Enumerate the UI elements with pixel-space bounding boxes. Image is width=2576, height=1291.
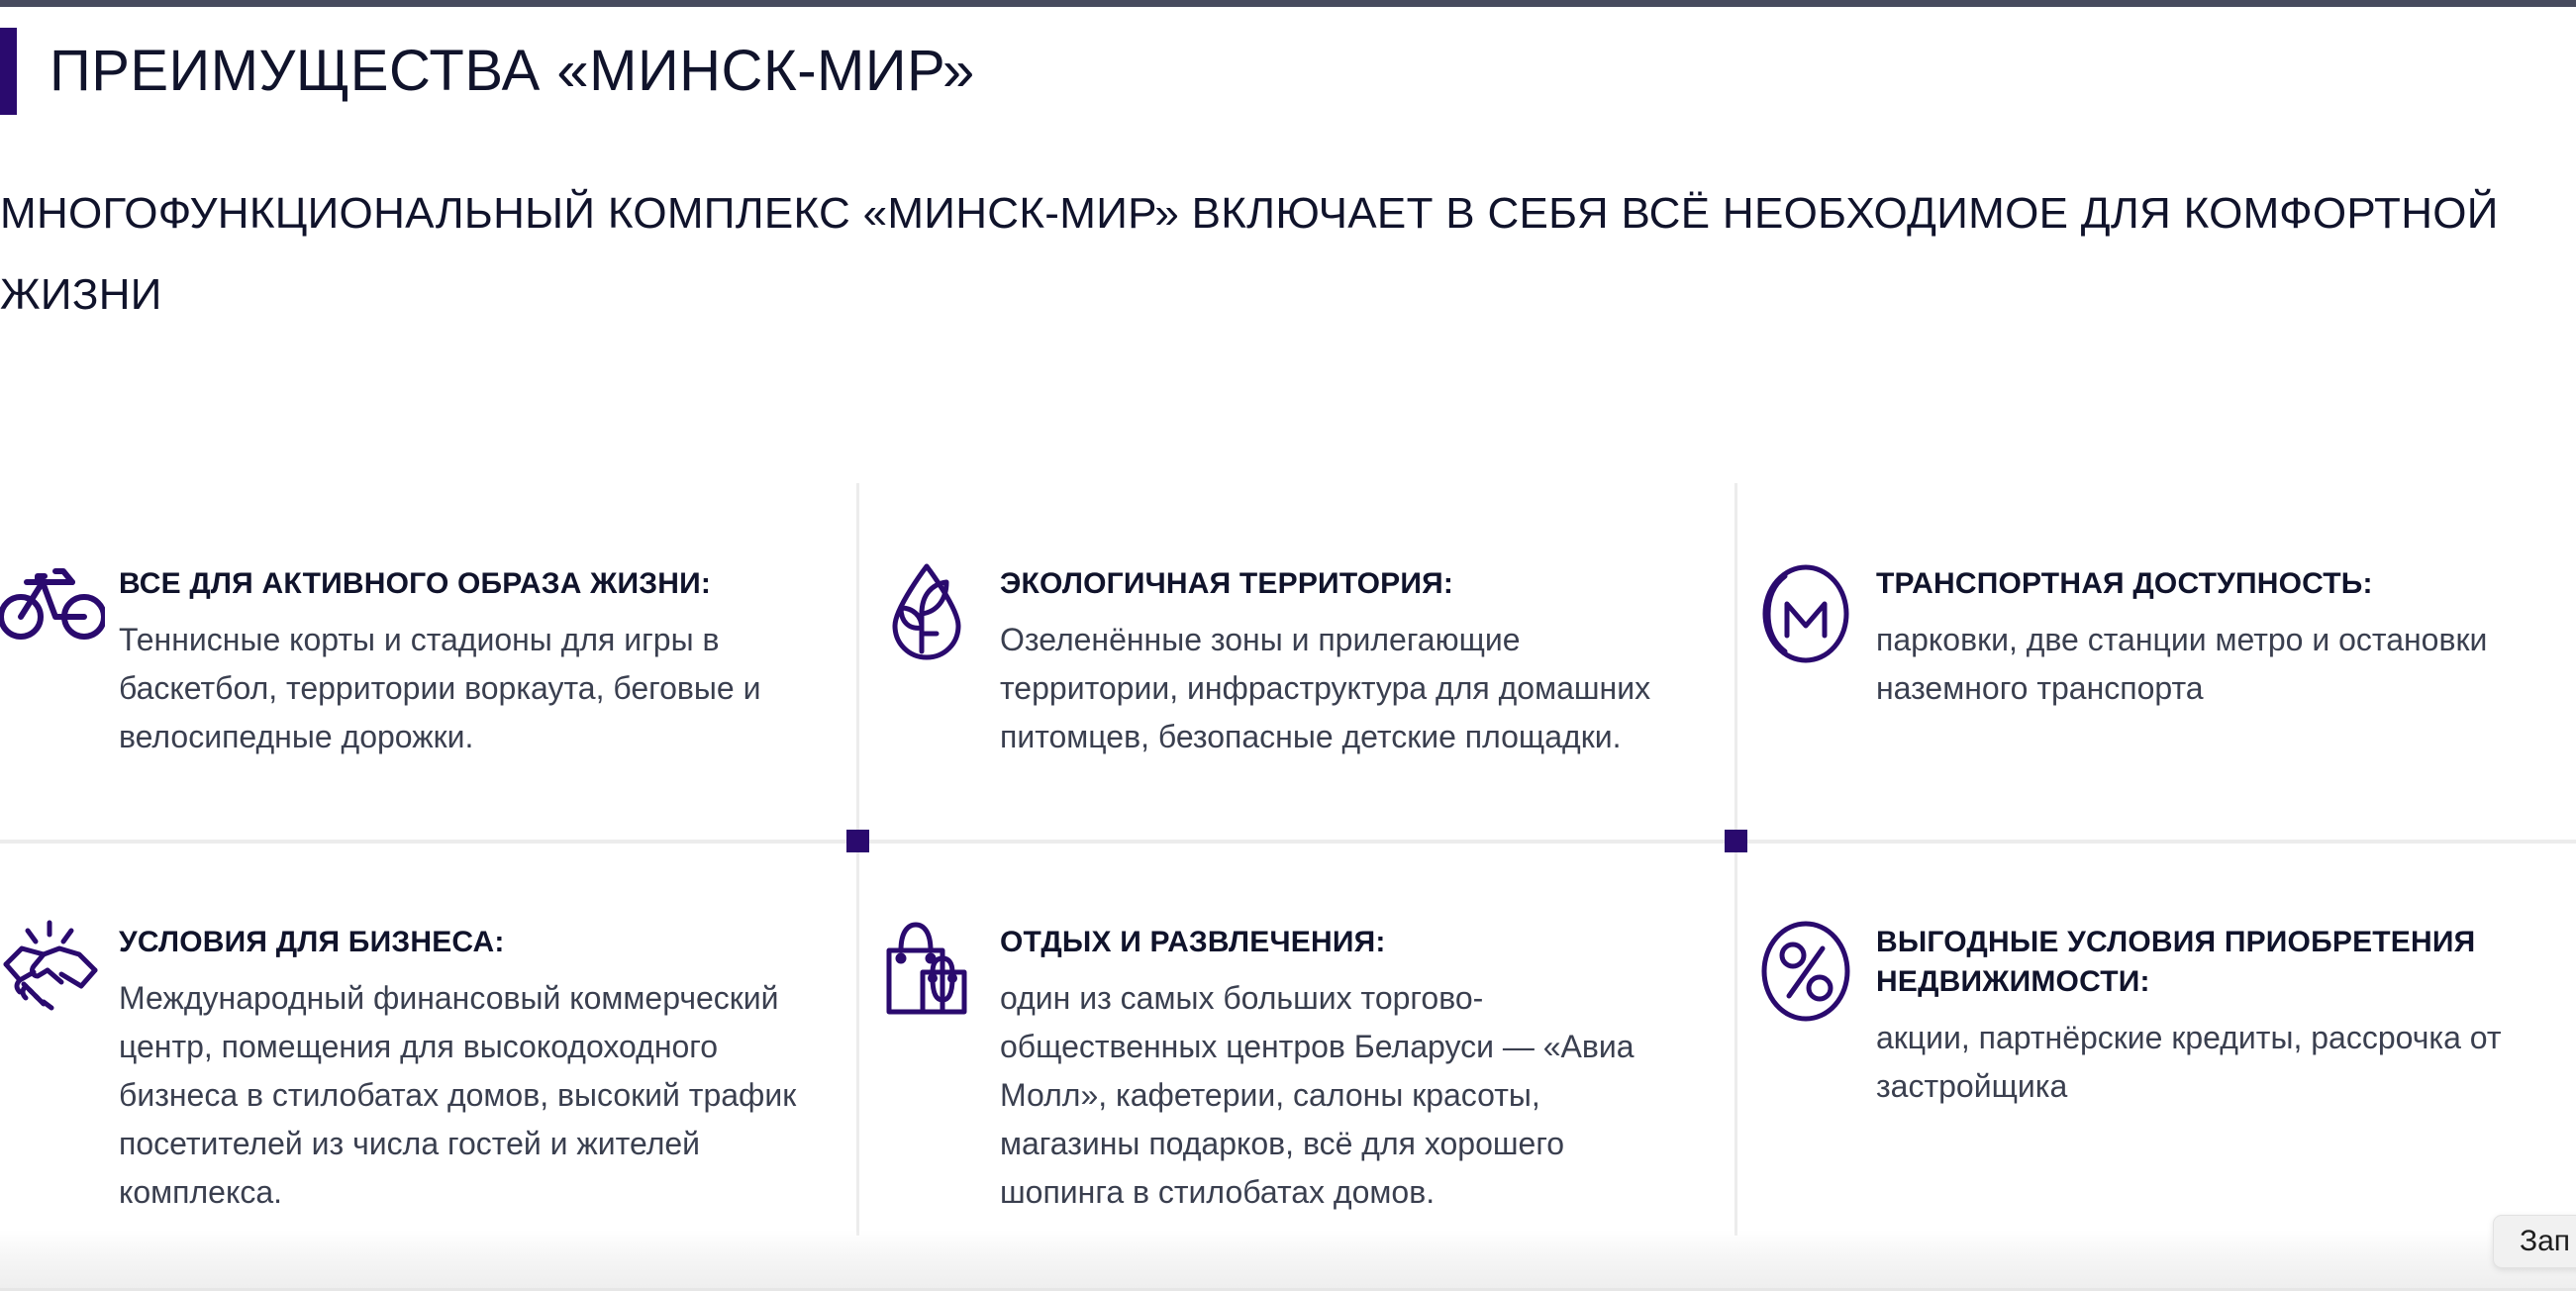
grid-junction-marker-1 — [846, 830, 869, 852]
heading-accent-bar — [0, 28, 17, 115]
advantage-card-title: УСЛОВИЯ ДЛЯ БИЗНЕСА: — [119, 923, 802, 962]
grid-junction-marker-2 — [1725, 830, 1747, 852]
advantages-grid: ВСЕ ДЛЯ АКТИВНОГО ОБРАЗА ЖИЗНИ: Теннисны… — [0, 483, 2576, 1236]
advantage-card-eco-territory: ЭКОЛОГИЧНАЯ ТЕРРИТОРИЯ: Озеленённые зоны… — [881, 558, 1683, 761]
advantage-card-purchase-terms: ВЫГОДНЫЕ УСЛОВИЯ ПРИОБРЕТЕНИЯ НЕДВИЖИМОС… — [1757, 917, 2569, 1111]
advantage-card-title: ОТДЫХ И РАЗВЛЕЧЕНИЯ: — [1000, 923, 1683, 962]
advantage-card-body: ЭКОЛОГИЧНАЯ ТЕРРИТОРИЯ: Озеленённые зоны… — [1000, 558, 1683, 761]
advantage-card-leisure: ОТДЫХ И РАЗВЛЕЧЕНИЯ: один из самых больш… — [881, 917, 1683, 1217]
advantage-card-text: Международный финансовый коммерческий це… — [119, 974, 802, 1217]
advantage-card-transport: ТРАНСПОРТНАЯ ДОСТУПНОСТЬ: парковки, две … — [1757, 558, 2569, 713]
page-title: ПРЕИМУЩЕСТВА «МИНСК-МИР» — [50, 30, 975, 113]
grid-vertical-divider-1 — [856, 483, 859, 1236]
advantage-card-text: Теннисные корты и стадионы для игры в ба… — [119, 616, 802, 761]
advantage-card-text: один из самых больших торгово-общественн… — [1000, 974, 1683, 1217]
grid-horizontal-divider — [0, 840, 2576, 844]
advantage-card-title: ВСЕ ДЛЯ АКТИВНОГО ОБРАЗА ЖИЗНИ: — [119, 564, 802, 604]
advantage-card-title: ТРАНСПОРТНАЯ ДОСТУПНОСТЬ: — [1876, 564, 2569, 604]
page-subtitle: МНОГОФУНКЦИОНАЛЬНЫЙ КОМПЛЕКС «МИНСК-МИР»… — [0, 173, 2559, 336]
bottom-fade-overlay — [0, 1230, 2576, 1291]
advantage-card-active-lifestyle: ВСЕ ДЛЯ АКТИВНОГО ОБРАЗА ЖИЗНИ: Теннисны… — [0, 558, 802, 761]
advantage-card-body: ВЫГОДНЫЕ УСЛОВИЯ ПРИОБРЕТЕНИЯ НЕДВИЖИМОС… — [1876, 917, 2569, 1111]
section-heading: ПРЕИМУЩЕСТВА «МИНСК-МИР» — [0, 28, 2576, 119]
browser-chrome-strip — [0, 0, 2576, 7]
bicycle-icon — [0, 558, 119, 667]
advantage-card-body: ТРАНСПОРТНАЯ ДОСТУПНОСТЬ: парковки, две … — [1876, 558, 2569, 713]
advantage-card-text: акции, партнёрские кредиты, рассрочка от… — [1876, 1014, 2569, 1111]
handshake-icon — [0, 917, 119, 1026]
floating-request-button[interactable]: Зап — [2493, 1215, 2576, 1268]
advantage-card-body: УСЛОВИЯ ДЛЯ БИЗНЕСА: Международный финан… — [119, 917, 802, 1217]
percent-icon — [1757, 917, 1876, 1026]
advantage-card-body: ВСЕ ДЛЯ АКТИВНОГО ОБРАЗА ЖИЗНИ: Теннисны… — [119, 558, 802, 761]
advantage-card-text: парковки, две станции метро и остановки … — [1876, 616, 2569, 713]
advantage-card-body: ОТДЫХ И РАЗВЛЕЧЕНИЯ: один из самых больш… — [1000, 917, 1683, 1217]
grid-vertical-divider-2 — [1734, 483, 1737, 1236]
metro-icon — [1757, 558, 1876, 667]
advantage-card-text: Озеленённые зоны и прилегающие территори… — [1000, 616, 1683, 761]
advantage-card-title: ЭКОЛОГИЧНАЯ ТЕРРИТОРИЯ: — [1000, 564, 1683, 604]
page-root: ПРЕИМУЩЕСТВА «МИНСК-МИР» МНОГОФУНКЦИОНАЛ… — [0, 0, 2576, 1291]
advantage-card-title: ВЫГОДНЫЕ УСЛОВИЯ ПРИОБРЕТЕНИЯ НЕДВИЖИМОС… — [1876, 923, 2569, 1002]
shopping-bag-icon — [881, 917, 1000, 1026]
eco-leaf-drop-icon — [881, 558, 1000, 667]
advantage-card-business: УСЛОВИЯ ДЛЯ БИЗНЕСА: Международный финан… — [0, 917, 802, 1217]
